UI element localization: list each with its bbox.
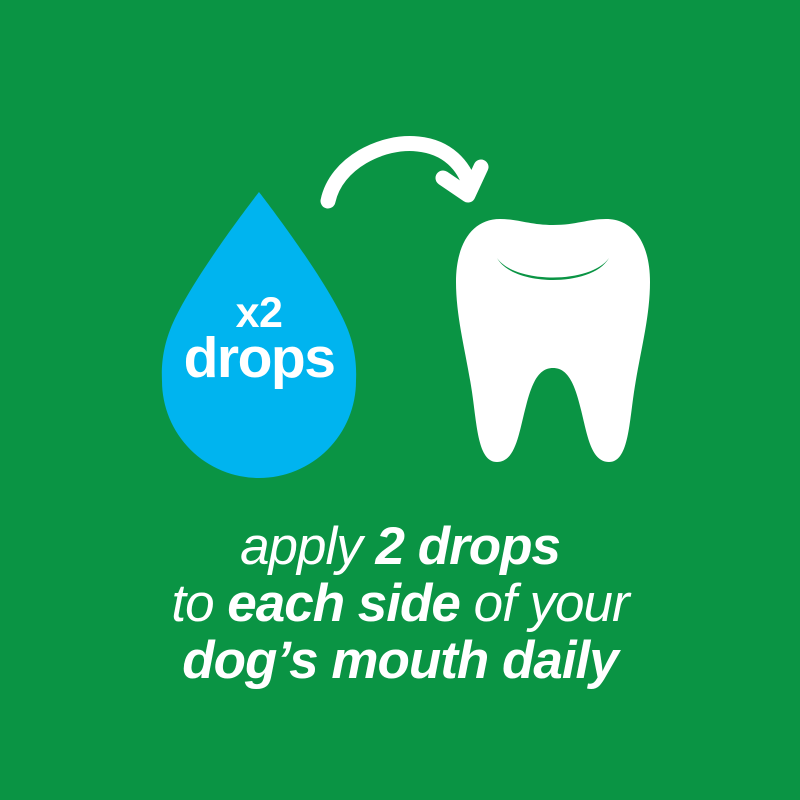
tooth-icon bbox=[456, 219, 650, 462]
caption-line-2-regular-a: to bbox=[171, 574, 227, 633]
caption-line-1: apply 2 drops bbox=[0, 518, 800, 575]
caption-line-1-bold: 2 drops bbox=[376, 517, 560, 576]
caption-line-2: to each side of your bbox=[0, 575, 800, 632]
curved-arrow-icon bbox=[328, 144, 481, 201]
caption-line-3-bold: dog’s mouth daily bbox=[182, 631, 618, 690]
caption-line-3: dog’s mouth daily bbox=[0, 632, 800, 689]
caption-line-1-regular: apply bbox=[240, 517, 375, 576]
caption-line-2-regular-b: of your bbox=[460, 574, 629, 633]
instruction-poster: x2 drops apply 2 drops to each side of y… bbox=[0, 0, 800, 800]
icon-illustration-group bbox=[0, 0, 800, 500]
caption-line-2-bold: each side bbox=[227, 574, 460, 633]
water-droplet-icon bbox=[162, 192, 356, 478]
instruction-caption: apply 2 drops to each side of your dog’s… bbox=[0, 518, 800, 689]
